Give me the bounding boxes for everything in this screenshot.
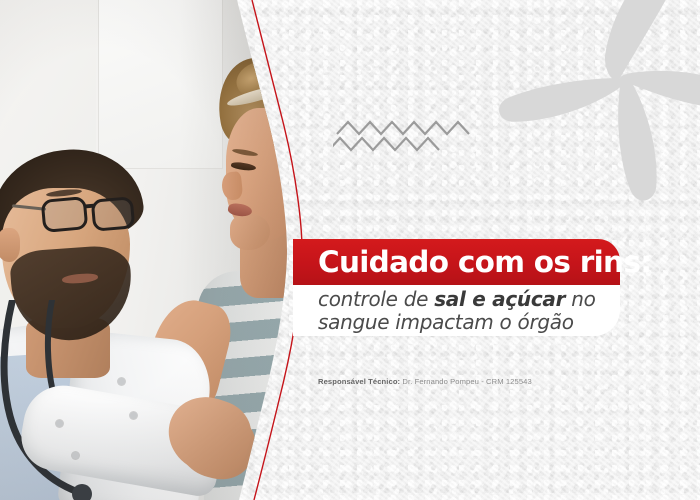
subtitle-line-1: controle de sal e açúcar no: [318, 288, 596, 311]
zigzag-lines-icon: [333, 118, 483, 158]
subtitle: controle de sal e açúcar no sangue impac…: [318, 288, 596, 334]
subtitle-line-2: sangue impactam o órgão: [318, 311, 596, 334]
flower-petals-icon: [492, 0, 700, 210]
subtitle-text-pre: controle de: [318, 287, 434, 311]
responsible-technician-value: Dr. Fernando Pompeu - CRM 125543: [400, 377, 532, 386]
curved-red-divider: [0, 0, 330, 500]
responsible-technician: Responsável Técnico: Dr. Fernando Pompeu…: [318, 377, 532, 386]
page-title: Cuidado com os rins:: [318, 245, 651, 279]
subtitle-text-post: no: [565, 287, 595, 311]
subtitle-text-bold: sal e açúcar: [434, 287, 565, 311]
banner-root: Cuidado com os rins: controle de sal e a…: [0, 0, 700, 500]
responsible-technician-label: Responsável Técnico:: [318, 377, 400, 386]
